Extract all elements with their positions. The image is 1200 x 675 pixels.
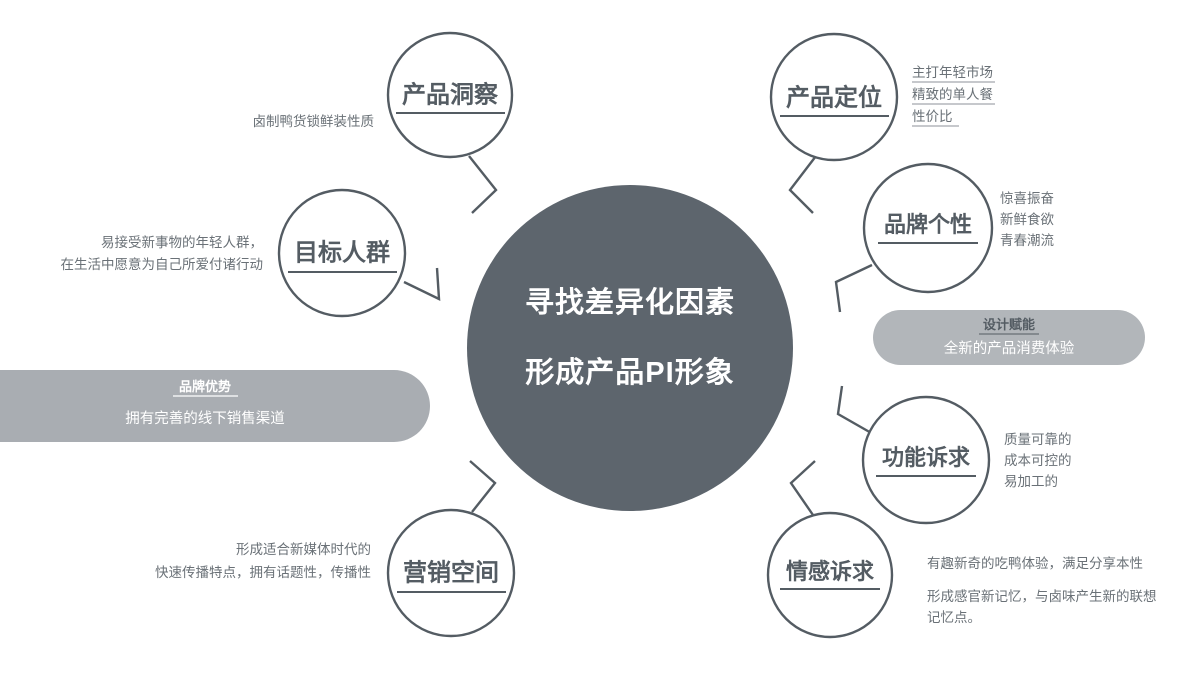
node-emotional-appeal[interactable]: 情感诉求	[768, 513, 892, 637]
node-label: 产品洞察	[402, 80, 499, 108]
annotation-line: 质量可靠的	[1004, 432, 1072, 447]
annotation-line: 精致的单人餐	[912, 87, 993, 102]
annotation-emotional-appeal: 有趣新奇的吃鸭体验，满足分享本性 形成感官新记忆，与卤味产生新的联想 记忆点。	[927, 555, 1157, 625]
center-circle	[467, 185, 793, 511]
center-node[interactable]: 寻找差异化因素 形成产品PI形象	[467, 185, 793, 511]
node-target-audience[interactable]: 目标人群	[279, 190, 405, 316]
diagram-canvas: 寻找差异化因素 形成产品PI形象 产品洞察 产品定位 品牌个性 功能诉求 情感诉…	[0, 0, 1200, 675]
annotation-line: 青春潮流	[1000, 233, 1054, 248]
annotation-line: 有趣新奇的吃鸭体验，满足分享本性	[927, 555, 1143, 571]
annotation-line: 形成适合新媒体时代的	[236, 542, 371, 557]
connector-product-positioning	[790, 156, 816, 213]
node-product-insight[interactable]: 产品洞察	[388, 33, 512, 157]
node-label: 目标人群	[294, 239, 390, 266]
pill-design-empowerment[interactable]: 设计赋能 全新的产品消费体验	[873, 310, 1145, 365]
annotation-line: 惊喜振奋	[1000, 191, 1054, 206]
node-functional-appeal[interactable]: 功能诉求	[863, 397, 989, 523]
pill-title: 品牌优势	[179, 379, 231, 394]
pill-title: 设计赋能	[983, 317, 1035, 332]
annotation-line: 卤制鸭货锁鲜装性质	[253, 113, 375, 129]
annotation-product-positioning: 主打年轻市场 精致的单人餐 性价比	[912, 64, 995, 126]
connector-product-insight	[469, 156, 496, 213]
annotation-line: 成本可控的	[1004, 453, 1072, 468]
annotation-line: 新鲜食欲	[1000, 211, 1054, 227]
annotation-marketing-space: 形成适合新媒体时代的 快速传播特点，拥有话题性，传播性	[155, 542, 371, 580]
node-brand-personality[interactable]: 品牌个性	[864, 164, 992, 292]
annotation-target-audience: 易接受新事物的年轻人群， 在生活中愿意为自己所爱付诸行动	[61, 234, 264, 272]
center-line-1: 寻找差异化因素	[525, 286, 735, 319]
annotation-line: 快速传播特点，拥有话题性，传播性	[155, 565, 371, 580]
connector-functional-appeal	[838, 386, 873, 434]
node-label: 品牌个性	[884, 212, 972, 237]
annotation-line: 主打年轻市场	[912, 64, 993, 80]
annotation-line: 在生活中愿意为自己所爱付诸行动	[61, 256, 264, 272]
annotation-line: 记忆点。	[927, 610, 981, 625]
pill-body: 拥有完善的线下销售渠道	[125, 410, 285, 427]
annotation-line: 形成感官新记忆，与卤味产生新的联想	[927, 588, 1157, 604]
connector-marketing-space	[470, 461, 495, 512]
annotation-line: 易加工的	[1004, 474, 1058, 489]
node-label: 情感诉求	[786, 559, 874, 584]
node-label: 产品定位	[786, 83, 882, 111]
center-line-2: 形成产品PI形象	[525, 356, 734, 389]
connector-emotional-appeal	[791, 461, 815, 515]
connector-target-audience	[404, 268, 439, 299]
node-label: 营销空间	[403, 558, 499, 586]
pill-brand-advantage[interactable]: 品牌优势 拥有完善的线下销售渠道	[0, 370, 430, 442]
pill-body: 全新的产品消费体验	[944, 339, 1075, 357]
node-marketing-space[interactable]: 营销空间	[388, 510, 514, 636]
annotation-functional-appeal: 质量可靠的 成本可控的 易加工的	[1004, 432, 1072, 489]
annotation-brand-personality: 惊喜振奋 新鲜食欲 青春潮流	[1000, 191, 1054, 248]
node-product-positioning[interactable]: 产品定位	[771, 34, 897, 160]
annotation-line: 性价比	[912, 109, 953, 124]
node-label: 功能诉求	[882, 445, 970, 470]
annotation-product-insight: 卤制鸭货锁鲜装性质	[253, 113, 375, 129]
annotation-line: 易接受新事物的年轻人群，	[101, 234, 263, 250]
connector-brand-personality	[836, 265, 872, 312]
